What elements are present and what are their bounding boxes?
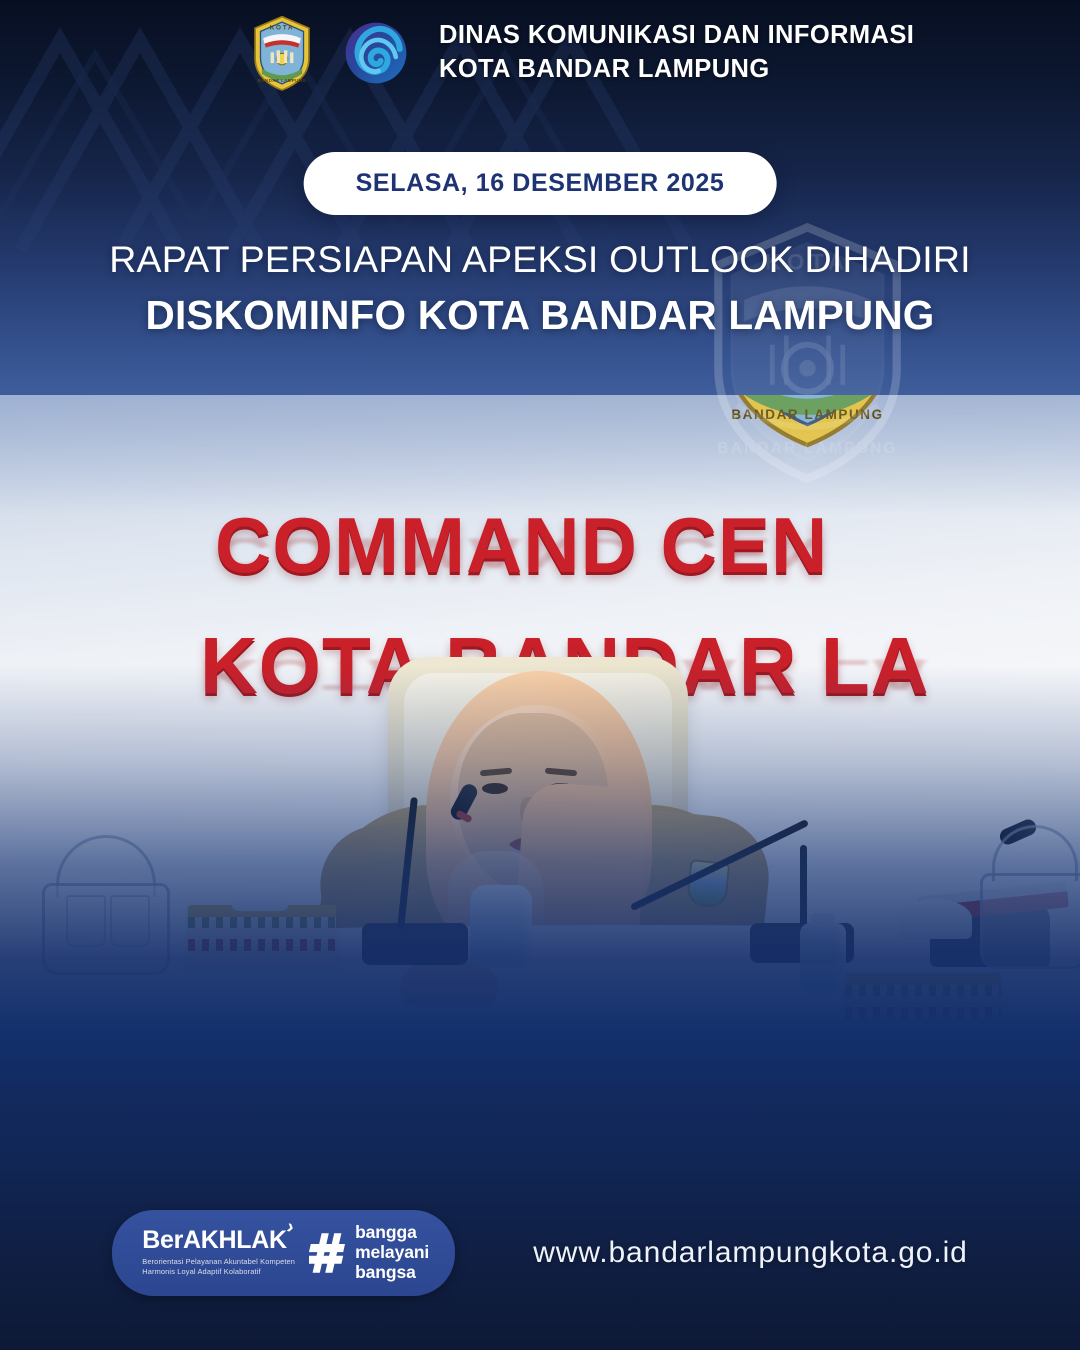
tapis-tissue-box-right bbox=[845, 973, 1001, 1025]
org-line-1: DINAS KOMUNIKASI DAN INFORMASI bbox=[439, 19, 914, 52]
date-badge: SELASA, 16 DESEMBER 2025 bbox=[304, 152, 777, 215]
microphone-base-left bbox=[362, 923, 468, 965]
berakhlak-values-line-1: Berorientasi Pelayanan Akuntabel Kompete… bbox=[142, 1257, 295, 1267]
title-line-1: RAPAT PERSIAPAN APEKSI OUTLOOK DIHADIRI bbox=[40, 238, 1040, 281]
organization-name: DINAS KOMUNIKASI DAN INFORMASI KOTA BAND… bbox=[439, 19, 914, 85]
wire-basket-right bbox=[980, 873, 1080, 969]
berakhlak-text-block: BerAKHLAK › Berorientasi Pelayanan Akunt… bbox=[142, 1228, 299, 1277]
wrapped-snack bbox=[470, 885, 532, 967]
slogan-line-1: bangga bbox=[355, 1223, 429, 1243]
tissue-right bbox=[898, 899, 972, 939]
poster-canvas: KOTA BANDAR LAMPUNG KOTA BANDAR LAMPUNG bbox=[0, 0, 1080, 1350]
wire-basket bbox=[42, 883, 170, 975]
org-line-2: KOTA BANDAR LAMPUNG bbox=[439, 53, 914, 86]
meeting-photo: KOTA BANDAR LAMPUNG COMMAND CEN KOTA BAN… bbox=[0, 395, 1080, 1095]
berakhlak-values: Berorientasi Pelayanan Akuntabel Kompete… bbox=[142, 1257, 295, 1277]
tissue-left bbox=[232, 885, 288, 911]
tapis-tissue-box-left bbox=[188, 905, 336, 967]
drinking-glass-1 bbox=[66, 895, 106, 947]
poster-title: RAPAT PERSIAPAN APEKSI OUTLOOK DIHADIRI … bbox=[0, 238, 1080, 340]
title-line-2: DISKOMINFO KOTA BANDAR LAMPUNG bbox=[40, 292, 1040, 340]
water-bottle-right bbox=[800, 923, 846, 995]
poster-header: KOTA BANDAR LAMPUNG DINAS KOMUNIKASI bbox=[0, 0, 1080, 105]
berakhlak-values-line-2: Harmonis Loyal Adaptif Kolaboratif bbox=[142, 1267, 295, 1277]
wall-text-command-center: COMMAND CEN bbox=[215, 500, 1080, 591]
berakhlak-slogan: bangga melayani bangsa bbox=[355, 1223, 429, 1282]
watermark-seal-bottom-text: BANDAR LAMPUNG bbox=[717, 440, 897, 457]
poster-footer: BerAKHLAK › Berorientasi Pelayanan Akunt… bbox=[0, 1210, 1080, 1296]
kominfo-wave-logo-icon bbox=[343, 20, 409, 86]
berakhlak-tick-icon: › bbox=[284, 1216, 296, 1240]
city-seal-bottom-text: BANDAR LAMPUNG bbox=[258, 77, 307, 82]
website-url[interactable]: www.bandarlampungkota.go.id bbox=[533, 1236, 968, 1270]
city-seal-top-text: KOTA bbox=[270, 24, 295, 31]
slogan-line-2: melayani bbox=[355, 1243, 429, 1263]
slanted-hash-icon bbox=[309, 1231, 345, 1275]
drinking-glass-2 bbox=[110, 895, 150, 947]
left-eye bbox=[482, 783, 508, 794]
water-bottle-cap bbox=[811, 913, 835, 927]
berakhlak-logo: BerAKHLAK › Berorientasi Pelayanan Akunt… bbox=[112, 1210, 455, 1295]
speaker-hand bbox=[400, 962, 498, 1006]
microphone-stem-right bbox=[800, 845, 807, 935]
city-seal-icon: KOTA BANDAR LAMPUNG bbox=[243, 14, 321, 92]
berakhlak-wordmark: BerAKHLAK bbox=[142, 1226, 287, 1254]
slogan-line-3: bangsa bbox=[355, 1263, 429, 1283]
